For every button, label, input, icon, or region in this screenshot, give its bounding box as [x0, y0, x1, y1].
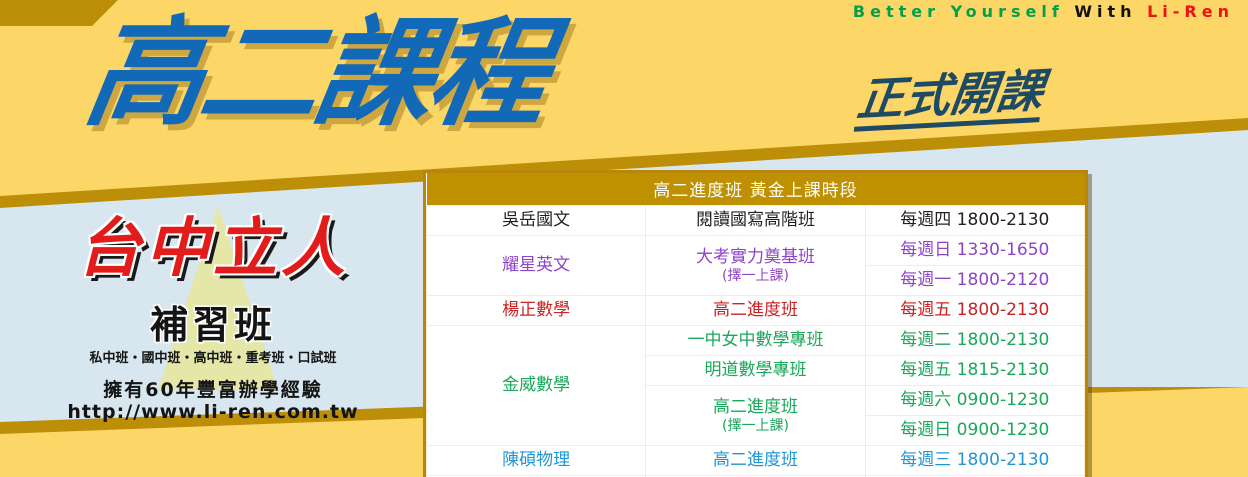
page-title: 高二課程: [79, 14, 554, 132]
cell-course: 高二進度班: [646, 296, 865, 326]
tagline-part-with: With: [1074, 2, 1136, 21]
logo-school-kind: 補習班: [18, 303, 408, 347]
cell-time: 每週六 0900-1230: [865, 386, 1084, 416]
cell-course: 高二進度班: [646, 446, 865, 476]
schedule-table-body: 吳岳國文閱讀國寫高階班每週四 1800-2130耀星英文大考實力奠基班(擇一上課…: [427, 206, 1085, 477]
table-row: 耀星英文大考實力奠基班(擇一上課)每週日 1330-1650: [427, 236, 1085, 266]
course-name: 一中女中數學專班: [687, 330, 823, 350]
logo-school-name: 台中立人: [18, 213, 408, 285]
schedule-table-head: 高二進度班 黃金上課時段: [427, 173, 1085, 206]
schedule-table: 高二進度班 黃金上課時段 吳岳國文閱讀國寫高階班每週四 1800-2130耀星英…: [426, 173, 1085, 477]
cell-course: 閱讀國寫高階班: [646, 206, 865, 236]
course-name: 高二進度班: [713, 397, 798, 417]
cell-time: 每週五 1815-2130: [865, 356, 1084, 386]
cell-teacher: 吳岳國文: [427, 206, 646, 236]
logo-experience-text: 擁有60年豐富辦學經驗: [18, 378, 408, 402]
logo-class-types: 私中班・國中班・高中班・重考班・口試班: [18, 351, 408, 367]
cell-teacher: 金威數學: [427, 326, 646, 446]
cell-time: 每週一 1800-2120: [865, 266, 1084, 296]
cell-time: 每週四 1800-2130: [865, 206, 1084, 236]
cell-time: 每週三 1800-2130: [865, 446, 1084, 476]
table-row: 楊正數學高二進度班每週五 1800-2130: [427, 296, 1085, 326]
course-name: 高二進度班: [713, 300, 798, 320]
course-note: (擇一上課): [648, 268, 862, 285]
tagline-part-li-ren: Li-Ren: [1147, 2, 1234, 21]
cell-course: 一中女中數學專班: [646, 326, 865, 356]
table-row: 吳岳國文閱讀國寫高階班每週四 1800-2130: [427, 206, 1085, 236]
cell-teacher: 楊正數學: [427, 296, 646, 326]
course-note: (擇一上課): [648, 418, 862, 435]
page-subtitle: 正式開課: [854, 65, 1046, 132]
course-name: 明道數學專班: [704, 360, 806, 380]
cell-time: 每週日 0900-1230: [865, 416, 1084, 446]
cell-time: 每週五 1800-2130: [865, 296, 1084, 326]
cell-time: 每週二 1800-2130: [865, 326, 1084, 356]
course-name: 大考實力奠基班: [696, 247, 815, 267]
school-logo: 台中立人 補習班 私中班・國中班・高中班・重考班・口試班 擁有60年豐富辦學經驗…: [18, 205, 408, 420]
poster-root: Better Yourself With Li-Ren 高二課程 正式開課 台中…: [0, 0, 1248, 477]
course-name: 高二進度班: [713, 450, 798, 470]
cell-time: 每週日 1330-1650: [865, 236, 1084, 266]
table-header-row: 高二進度班 黃金上課時段: [427, 173, 1085, 206]
schedule-table-title: 高二進度班 黃金上課時段: [427, 173, 1085, 206]
logo-website-url[interactable]: http://www.li-ren.com.tw: [18, 401, 408, 423]
cell-course: 高二進度班(擇一上課): [646, 386, 865, 446]
cell-teacher: 耀星英文: [427, 236, 646, 296]
table-row: 陳碩物理高二進度班每週三 1800-2130: [427, 446, 1085, 476]
cell-course: 明道數學專班: [646, 356, 865, 386]
cell-course: 大考實力奠基班(擇一上課): [646, 236, 865, 296]
schedule-table-container: 高二進度班 黃金上課時段 吳岳國文閱讀國寫高階班每週四 1800-2130耀星英…: [423, 170, 1088, 477]
cell-teacher: 陳碩物理: [427, 446, 646, 476]
tagline-part-better-yourself: Better Yourself: [853, 2, 1064, 21]
table-row: 金威數學一中女中數學專班每週二 1800-2130: [427, 326, 1085, 356]
course-name: 閱讀國寫高階班: [696, 210, 815, 230]
brand-tagline: Better Yourself With Li-Ren: [853, 2, 1234, 21]
